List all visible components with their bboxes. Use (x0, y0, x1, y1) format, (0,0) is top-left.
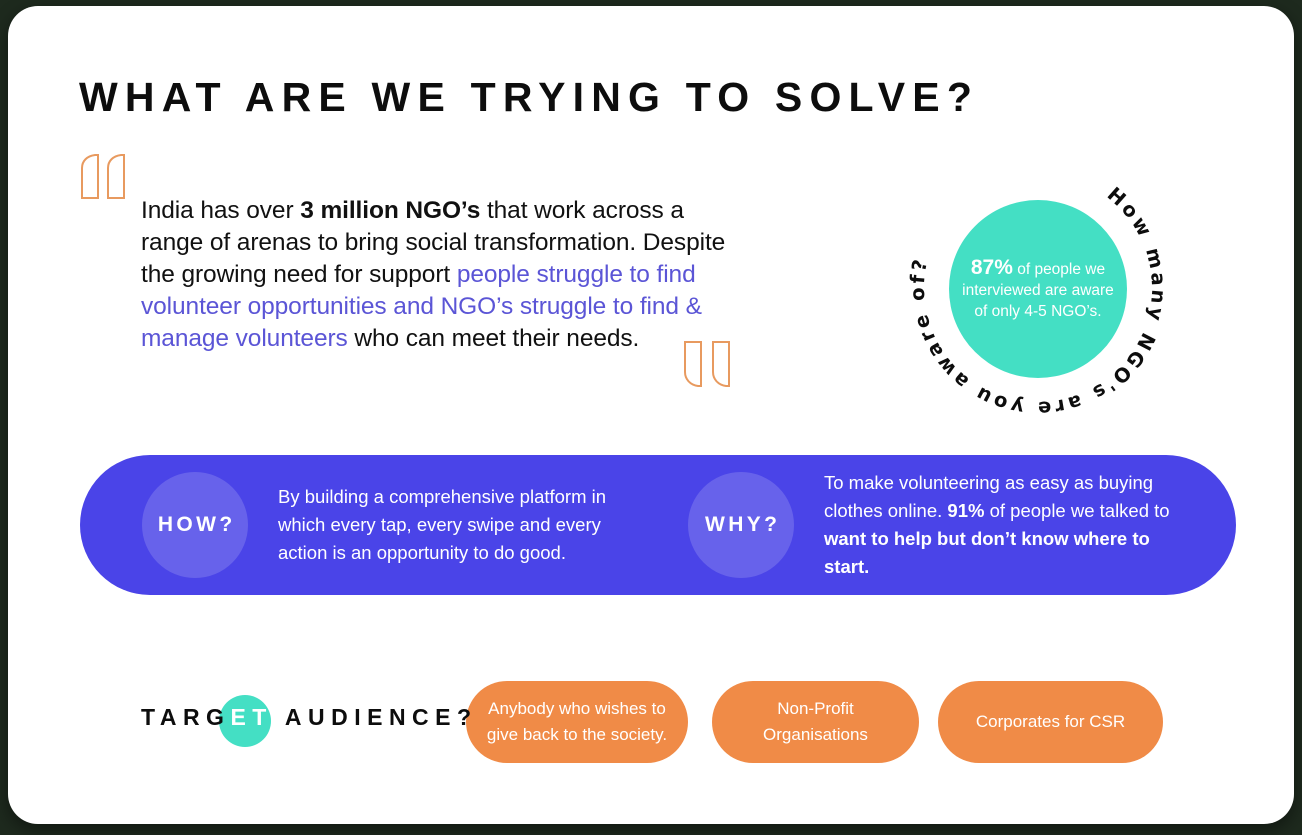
how-bubble: HOW? (142, 472, 248, 578)
audience-row: TARGET AUDIENCE? Anybody who wishes to g… (141, 678, 1163, 766)
audience-pill[interactable]: Non-Profit Organisations (712, 681, 919, 763)
audience-heading-after: AUDIENCE? (273, 704, 478, 730)
slide-card: WHAT ARE WE TRYING TO SOLVE? India has o… (8, 6, 1294, 824)
stat-badge: How many NGO's are you aware of? 87% of … (904, 154, 1172, 422)
quote-part-2-bold: 3 million NGO’s (300, 197, 480, 224)
why-body-percent: 91% (947, 500, 984, 521)
stat-percent: 87% (971, 256, 1013, 279)
why-body: To make volunteering as easy as buying c… (824, 469, 1184, 581)
banner-how-section: HOW? By building a comprehensive platfor… (80, 455, 680, 595)
info-banner: HOW? By building a comprehensive platfor… (80, 455, 1236, 595)
audience-pill[interactable]: Corporates for CSR (938, 681, 1163, 763)
audience-pill[interactable]: Anybody who wishes to give back to the s… (466, 681, 688, 763)
audience-heading: TARGET AUDIENCE? (141, 704, 478, 740)
how-body: By building a comprehensive platform in … (278, 483, 618, 567)
stat-inner-text: 87% of people we interviewed are aware o… (949, 200, 1127, 378)
audience-heading-before: TARG (141, 704, 230, 730)
why-bubble: WHY? (688, 472, 794, 578)
why-body-part-2: of people we talked to (984, 500, 1169, 521)
quote-part-5: who can meet their needs. (348, 325, 640, 352)
quote-part-1: India has over (141, 197, 300, 224)
audience-heading-circle-letters: ET (230, 704, 272, 730)
page-title: WHAT ARE WE TRYING TO SOLVE? (79, 74, 979, 121)
quote-text: India has over 3 million NGO’s that work… (141, 195, 731, 355)
quote-close-icon (680, 338, 742, 390)
banner-why-section: WHY? To make volunteering as easy as buy… (680, 455, 1236, 595)
why-body-bold: want to help but don’t know where to sta… (824, 528, 1150, 577)
quote-open-icon (78, 152, 136, 202)
